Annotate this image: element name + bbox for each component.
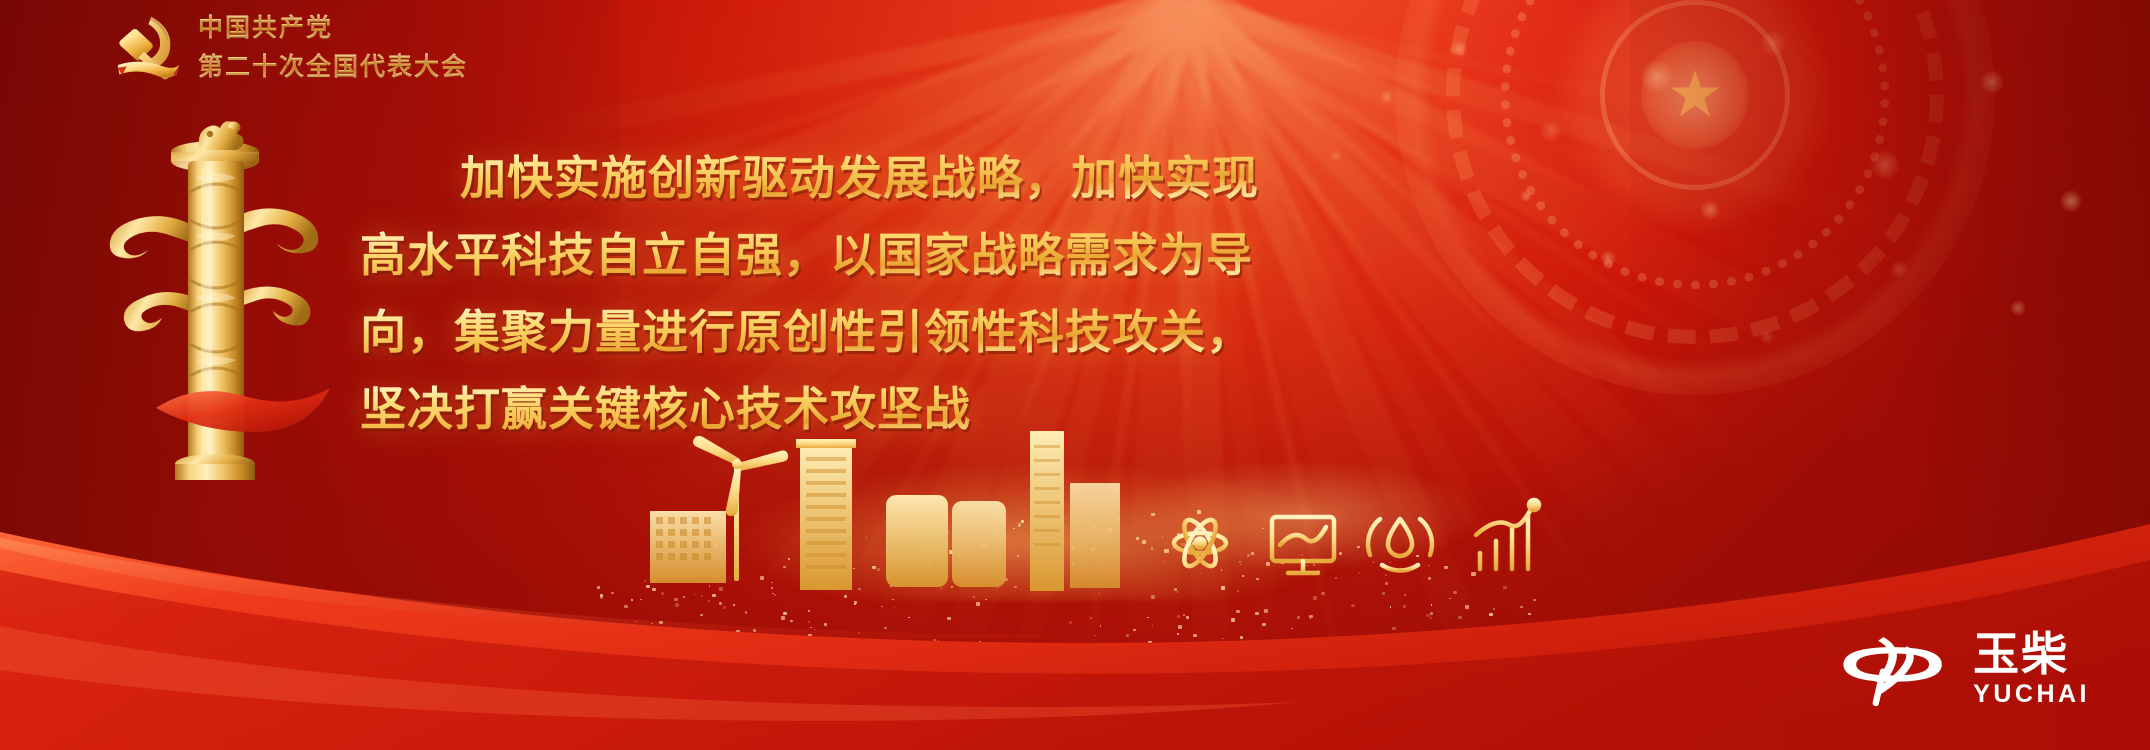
yuchai-name-cn: 玉柴 xyxy=(1973,631,2069,677)
hammer-and-sickle-emblem xyxy=(110,11,184,81)
slogan-line-3: 向，集聚力量进行原创性引领性科技攻关， xyxy=(360,294,1260,371)
slogan-line-1: 加快实施创新驱动发展战略，加快实现 xyxy=(360,140,1260,217)
slogan-block: 加快实施创新驱动发展战略，加快实现 高水平科技自立自强，以国家战略需求为导 向，… xyxy=(360,140,1260,448)
banner-canvas: 中国共产党 第二十次全国代表大会 加快实施创新驱动发展战略，加快实现 高水平科技… xyxy=(0,0,2150,750)
party-logo-line-2: 第二十次全国代表大会 xyxy=(198,47,468,83)
party-logo-line-1: 中国共产党 xyxy=(198,8,468,44)
slogan-line-2: 高水平科技自立自强，以国家战略需求为导 xyxy=(360,217,1260,294)
yuchai-swoosh-mark xyxy=(1839,628,1959,710)
huabiao-gold-pillar xyxy=(96,108,336,508)
slogan-line-4: 坚决打赢关键核心技术攻坚战 xyxy=(360,371,1260,448)
yuchai-brand-logo: 玉柴 YUCHAI xyxy=(1839,628,2090,710)
yuchai-name-en: YUCHAI xyxy=(1973,682,2090,707)
party-congress-logo: 中国共产党 第二十次全国代表大会 xyxy=(110,8,468,83)
